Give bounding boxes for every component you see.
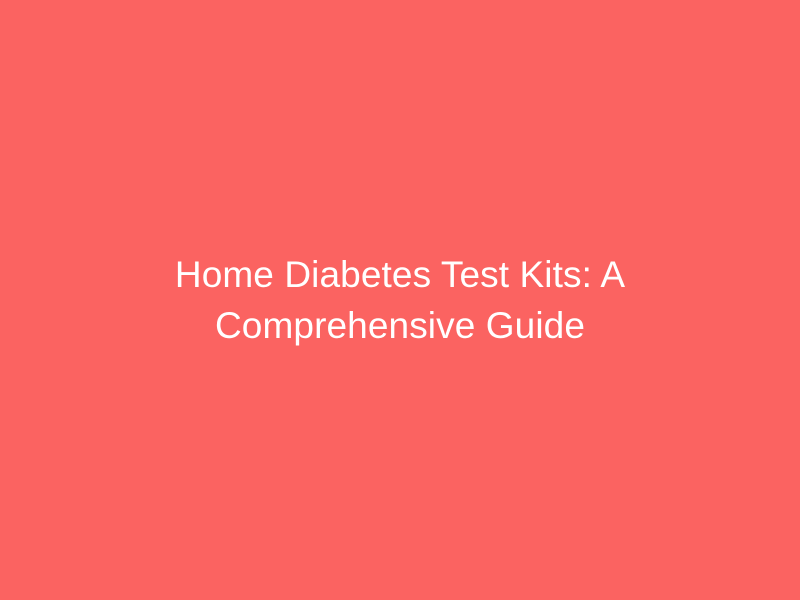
page-title: Home Diabetes Test Kits: A Comprehensive… xyxy=(80,249,720,351)
title-block: Home Diabetes Test Kits: A Comprehensive… xyxy=(80,249,720,351)
placeholder-card: Home Diabetes Test Kits: A Comprehensive… xyxy=(0,0,800,600)
